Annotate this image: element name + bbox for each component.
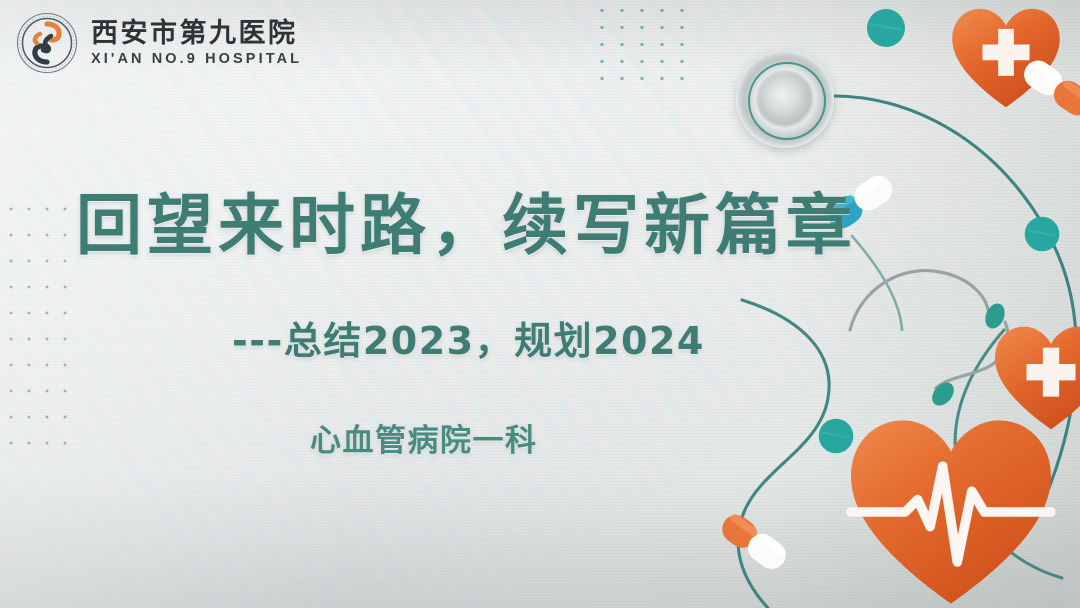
hospital-name-cn: 西安市第九医院 bbox=[91, 20, 302, 47]
hospital-name-block: 西安市第九医院 XI'AN NO.9 HOSPITAL bbox=[91, 20, 302, 67]
dot-grid-left bbox=[2, 196, 70, 466]
slide-subtitle: ---总结2023，规划2024 bbox=[232, 310, 705, 365]
dot-grid-top bbox=[592, 2, 688, 94]
department-name: 心血管病院一科 bbox=[310, 415, 538, 460]
presentation-slide: 西安市第九医院 XI'AN NO.9 HOSPITAL 回望来时路，续写新篇章 … bbox=[0, 0, 1080, 608]
xian-no9-hospital-emblem-icon bbox=[16, 12, 78, 74]
screen-vignette bbox=[0, 0, 1080, 608]
hospital-name-en: XI'AN NO.9 HOSPITAL bbox=[91, 52, 302, 67]
slide-title: 回望来时路，续写新篇章 bbox=[76, 172, 857, 268]
hospital-brand: 西安市第九医院 XI'AN NO.9 HOSPITAL bbox=[16, 12, 302, 74]
